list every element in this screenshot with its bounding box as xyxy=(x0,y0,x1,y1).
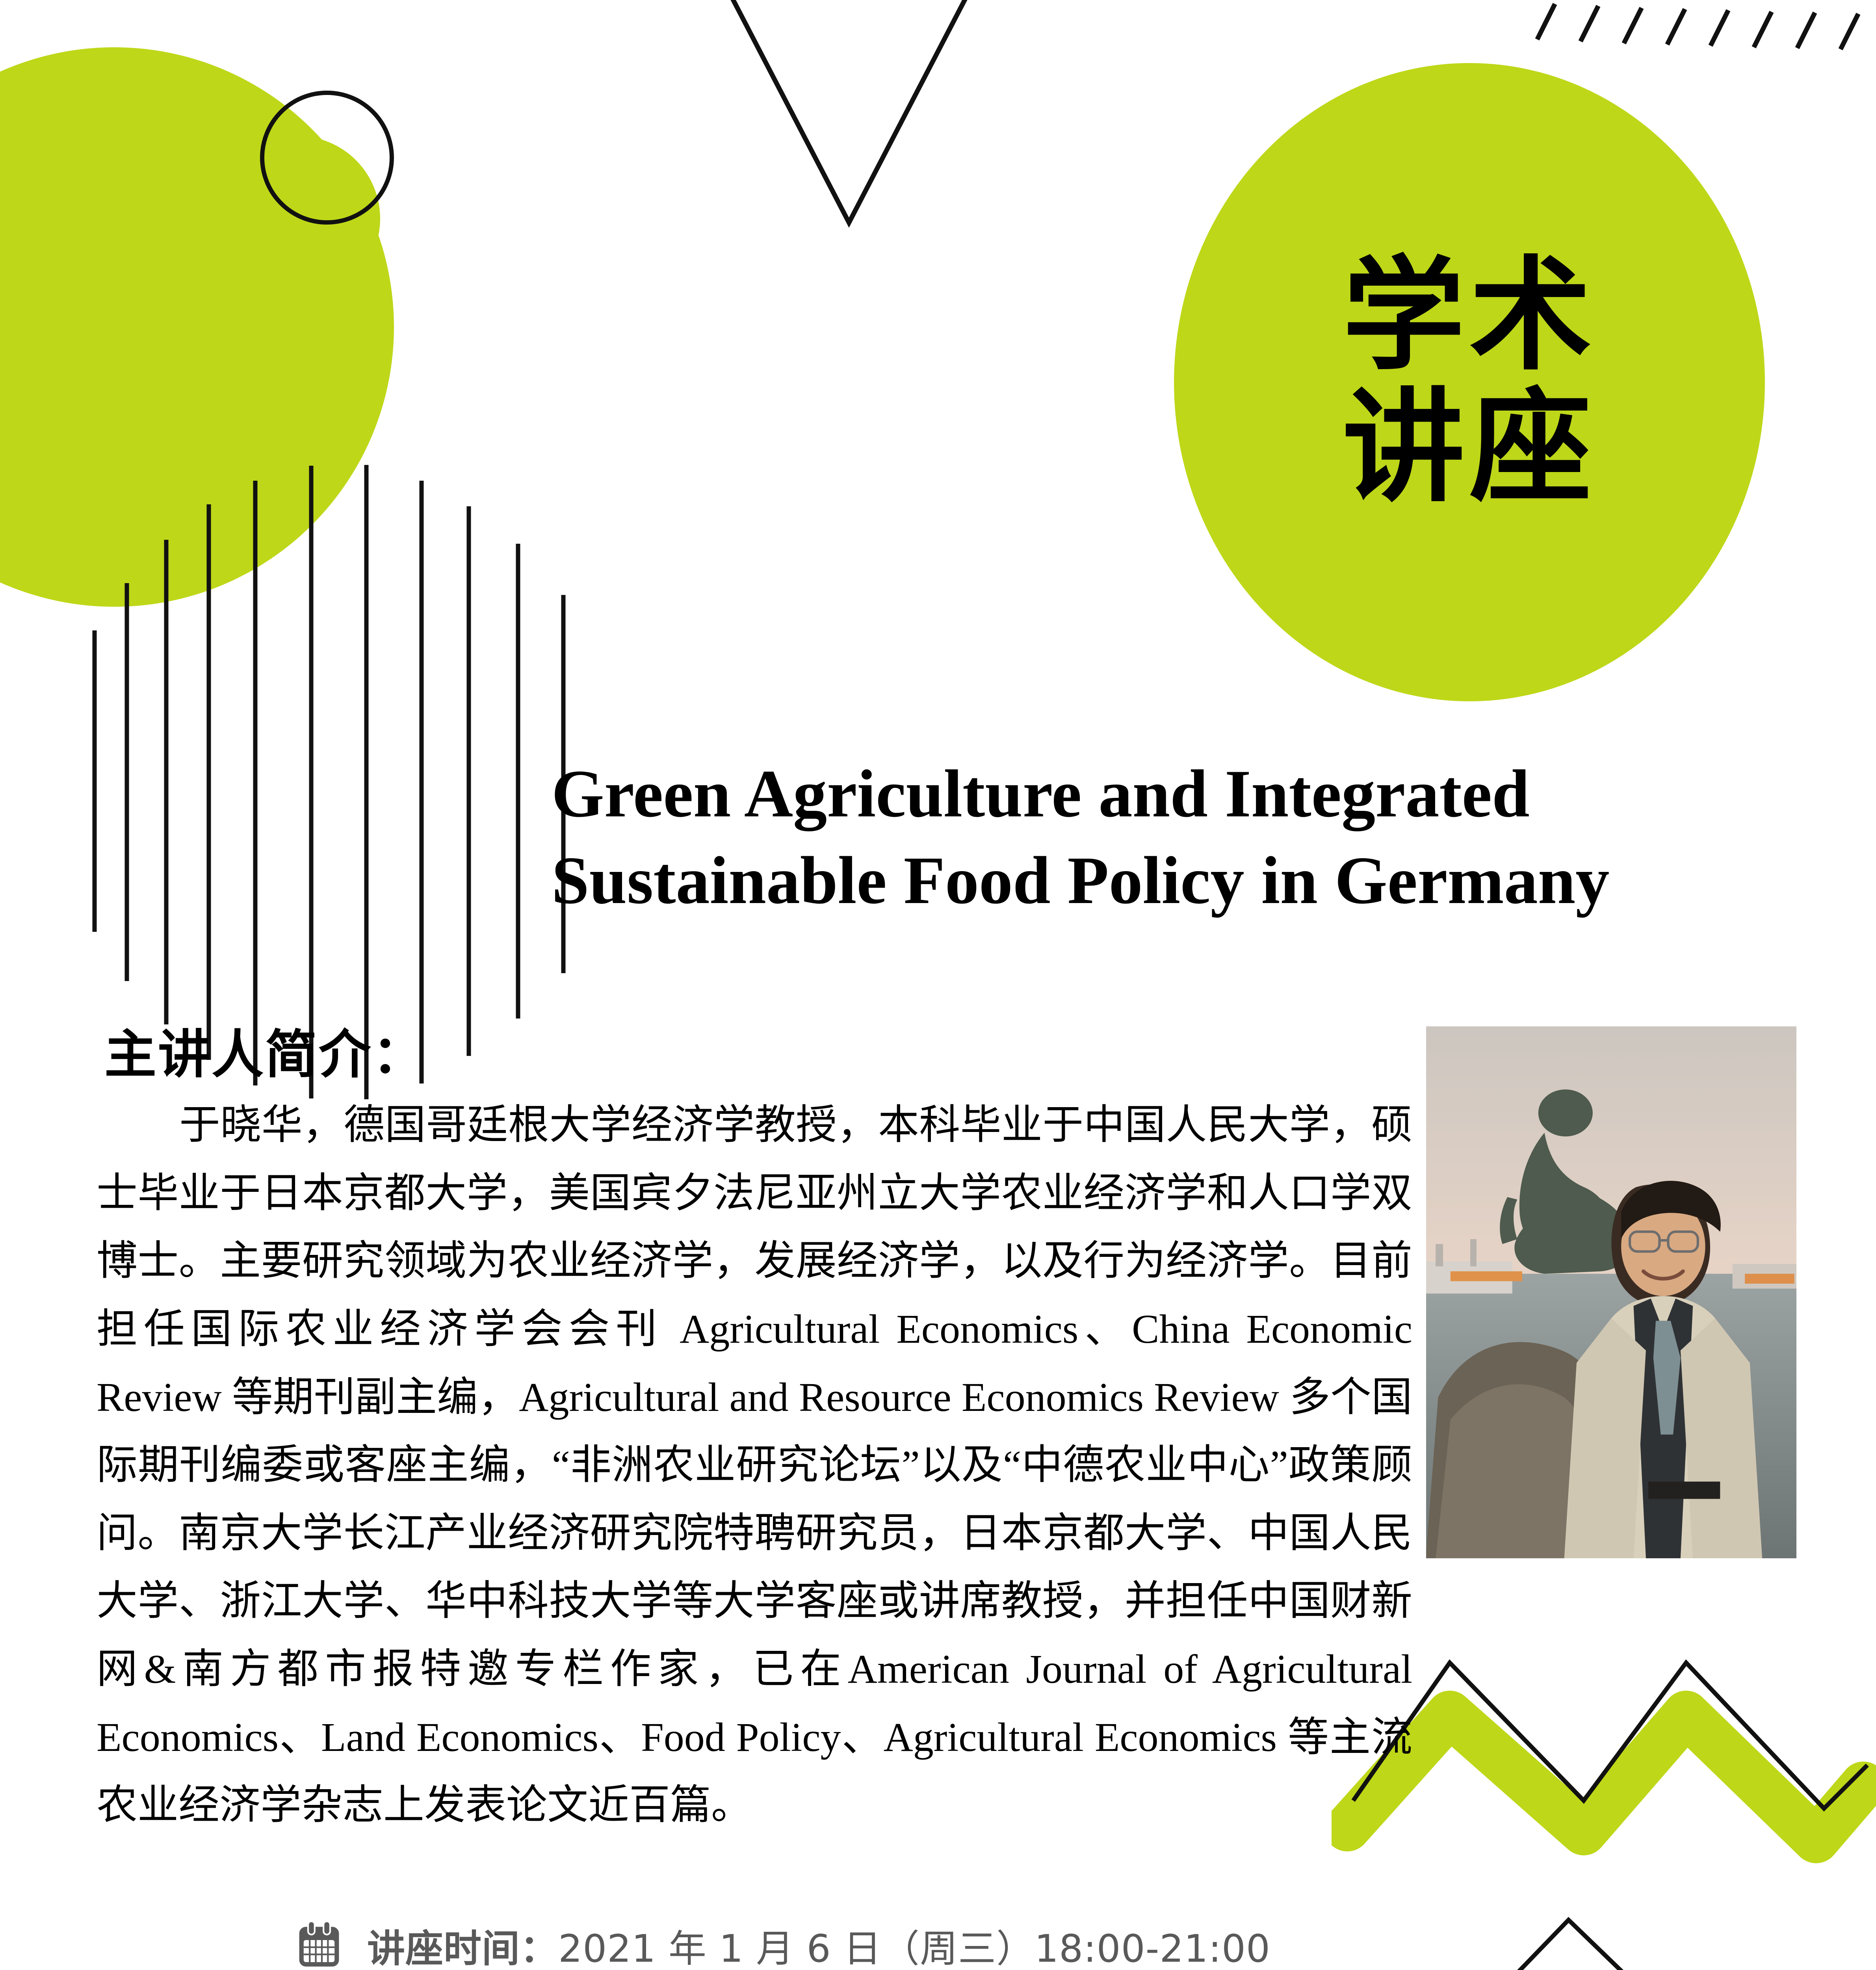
speaker-bio-text: 于晓华，德国哥廷根大学经济学教授，本科毕业于中国人民大学，硕士毕业于日本京都大学… xyxy=(97,1091,1412,1840)
speaker-photo-image xyxy=(1426,1026,1796,1558)
event-time-label: 讲座时间： xyxy=(367,1927,558,1970)
event-time-text: 讲座时间：2021 年 1 月 6 日（周三）18:00-21:00 xyxy=(367,1918,1270,1970)
event-row-time: 讲座时间：2021 年 1 月 6 日（周三）18:00-21:00 xyxy=(292,1909,1552,1970)
talk-title-line-2: Sustainable Food Policy in Germany xyxy=(552,837,1863,924)
event-time-value: 2021 年 1 月 6 日（周三）18:00-21:00 xyxy=(558,1927,1270,1970)
lecture-badge: 学术 讲座 xyxy=(1174,63,1765,701)
speaker-photo xyxy=(1426,1026,1796,1558)
calendar-icon xyxy=(292,1918,347,1970)
lecture-badge-line2: 讲座 xyxy=(1343,382,1596,514)
speaker-bio-heading: 主讲人简介： xyxy=(104,1013,426,1088)
lecture-badge-line1: 学术 xyxy=(1343,250,1596,382)
talk-title-line-1: Green Agriculture and Integrated xyxy=(552,751,1863,837)
event-details-list: 讲座时间：2021 年 1 月 6 日（周三）18:00-21:00 腾讯会议：… xyxy=(292,1909,1552,1970)
page-title: Green Agriculture and Integrated Sustain… xyxy=(552,751,1863,924)
